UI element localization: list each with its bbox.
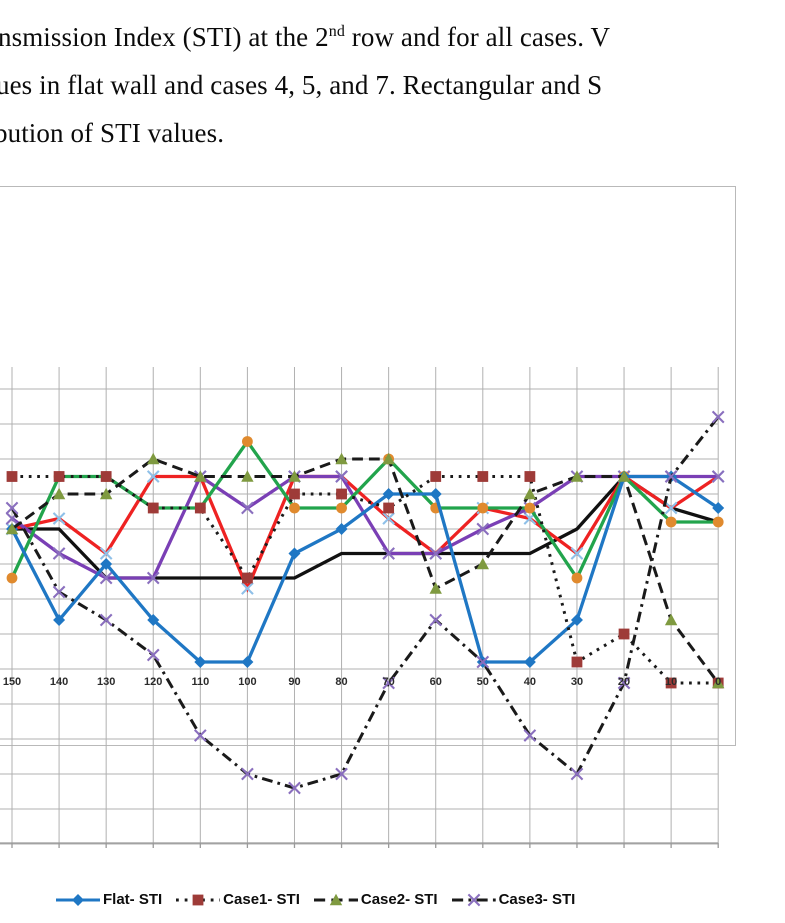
chart-gridlines [0, 367, 718, 844]
legend-label: Case3- STI [499, 891, 576, 908]
chart-marker [54, 471, 65, 482]
chart-marker [288, 548, 300, 560]
chart-svg [0, 367, 785, 857]
paragraph-line-1: nsmission Index (STI) at the 2nd row and… [0, 22, 610, 53]
x-tick-40: 40 [524, 676, 536, 688]
x-tick-90: 90 [288, 676, 300, 688]
chart-marker [101, 471, 112, 482]
chart-marker [383, 503, 394, 514]
paragraph-line-2: ues in flat wall and cases 4, 5, and 7. … [0, 70, 602, 101]
chart-marker [619, 629, 630, 640]
chart-series-flat-sti [6, 471, 724, 669]
legend-swatch-square-icon [175, 893, 221, 907]
x-tick-130: 130 [97, 676, 115, 688]
chart-marker [477, 503, 488, 514]
legend-entry-flat-sti[interactable]: Flat- STI [55, 891, 162, 908]
x-tick-120: 120 [144, 676, 162, 688]
x-tick-30: 30 [571, 676, 583, 688]
x-tick-110: 110 [191, 676, 209, 688]
chart-marker [242, 436, 253, 447]
chart-legend: Flat- STICase1- STICase2- STICase3- STI [0, 891, 785, 923]
chart-marker [289, 489, 300, 500]
chart-series-case3-sti [6, 411, 723, 793]
x-tick-70: 70 [383, 676, 395, 688]
legend-entry-case3-sti[interactable]: Case3- STI [451, 891, 576, 908]
x-tick-80: 80 [335, 676, 347, 688]
chart-marker [195, 503, 206, 514]
chart-plot-area [0, 367, 785, 857]
paragraph-text-block: nsmission Index (STI) at the 2nd row and… [0, 0, 785, 160]
chart-figure: 1501401301201101009080706050403020100 Fl… [0, 178, 785, 757]
legend-label: Case2- STI [361, 891, 438, 908]
chart-marker [289, 503, 300, 514]
chart-marker [665, 614, 677, 625]
chart-series-unlabeled-black-series [12, 477, 718, 579]
legend-swatch-diamond-icon [55, 893, 101, 907]
x-tick-60: 60 [430, 676, 442, 688]
legend-swatch-x-icon [451, 893, 497, 907]
chart-marker [572, 657, 583, 668]
chart-marker [572, 573, 583, 584]
chart-marker [7, 573, 18, 584]
chart-marker [242, 573, 253, 584]
legend-entry-case1-sti[interactable]: Case1- STI [175, 891, 300, 908]
chart-marker [666, 517, 677, 528]
paragraph-line-1-part-b: row and for all cases. V [345, 22, 610, 52]
x-tick-100: 100 [238, 676, 256, 688]
chart-series-group [6, 411, 725, 793]
legend-label: Flat- STI [103, 891, 162, 908]
x-tick-0: 0 [715, 676, 721, 688]
chart-marker [336, 489, 347, 500]
x-tick-150: 150 [3, 676, 21, 688]
chart-marker [336, 503, 347, 514]
paragraph-line-3: bution of STI values. [0, 118, 224, 149]
chart-marker [477, 471, 488, 482]
legend-swatch-triangle-icon [313, 893, 359, 907]
x-tick-20: 20 [618, 676, 630, 688]
ordinal-superscript: nd [329, 23, 345, 40]
x-tick-10: 10 [665, 676, 677, 688]
chart-marker [241, 656, 253, 668]
legend-entry-case2-sti[interactable]: Case2- STI [313, 891, 438, 908]
legend-label: Case1- STI [223, 891, 300, 908]
chart-marker [524, 471, 535, 482]
chart-marker [193, 894, 204, 905]
x-tick-50: 50 [477, 676, 489, 688]
paragraph-line-1-part-a: nsmission Index (STI) at the 2 [0, 22, 329, 52]
chart-marker [7, 471, 18, 482]
chart-marker [148, 503, 159, 514]
chart-marker [430, 471, 441, 482]
chart-marker [524, 503, 535, 514]
chart-marker [430, 582, 442, 593]
chart-marker [72, 894, 84, 906]
chart-marker [713, 517, 724, 528]
chart-marker [430, 488, 442, 500]
x-tick-140: 140 [50, 676, 68, 688]
